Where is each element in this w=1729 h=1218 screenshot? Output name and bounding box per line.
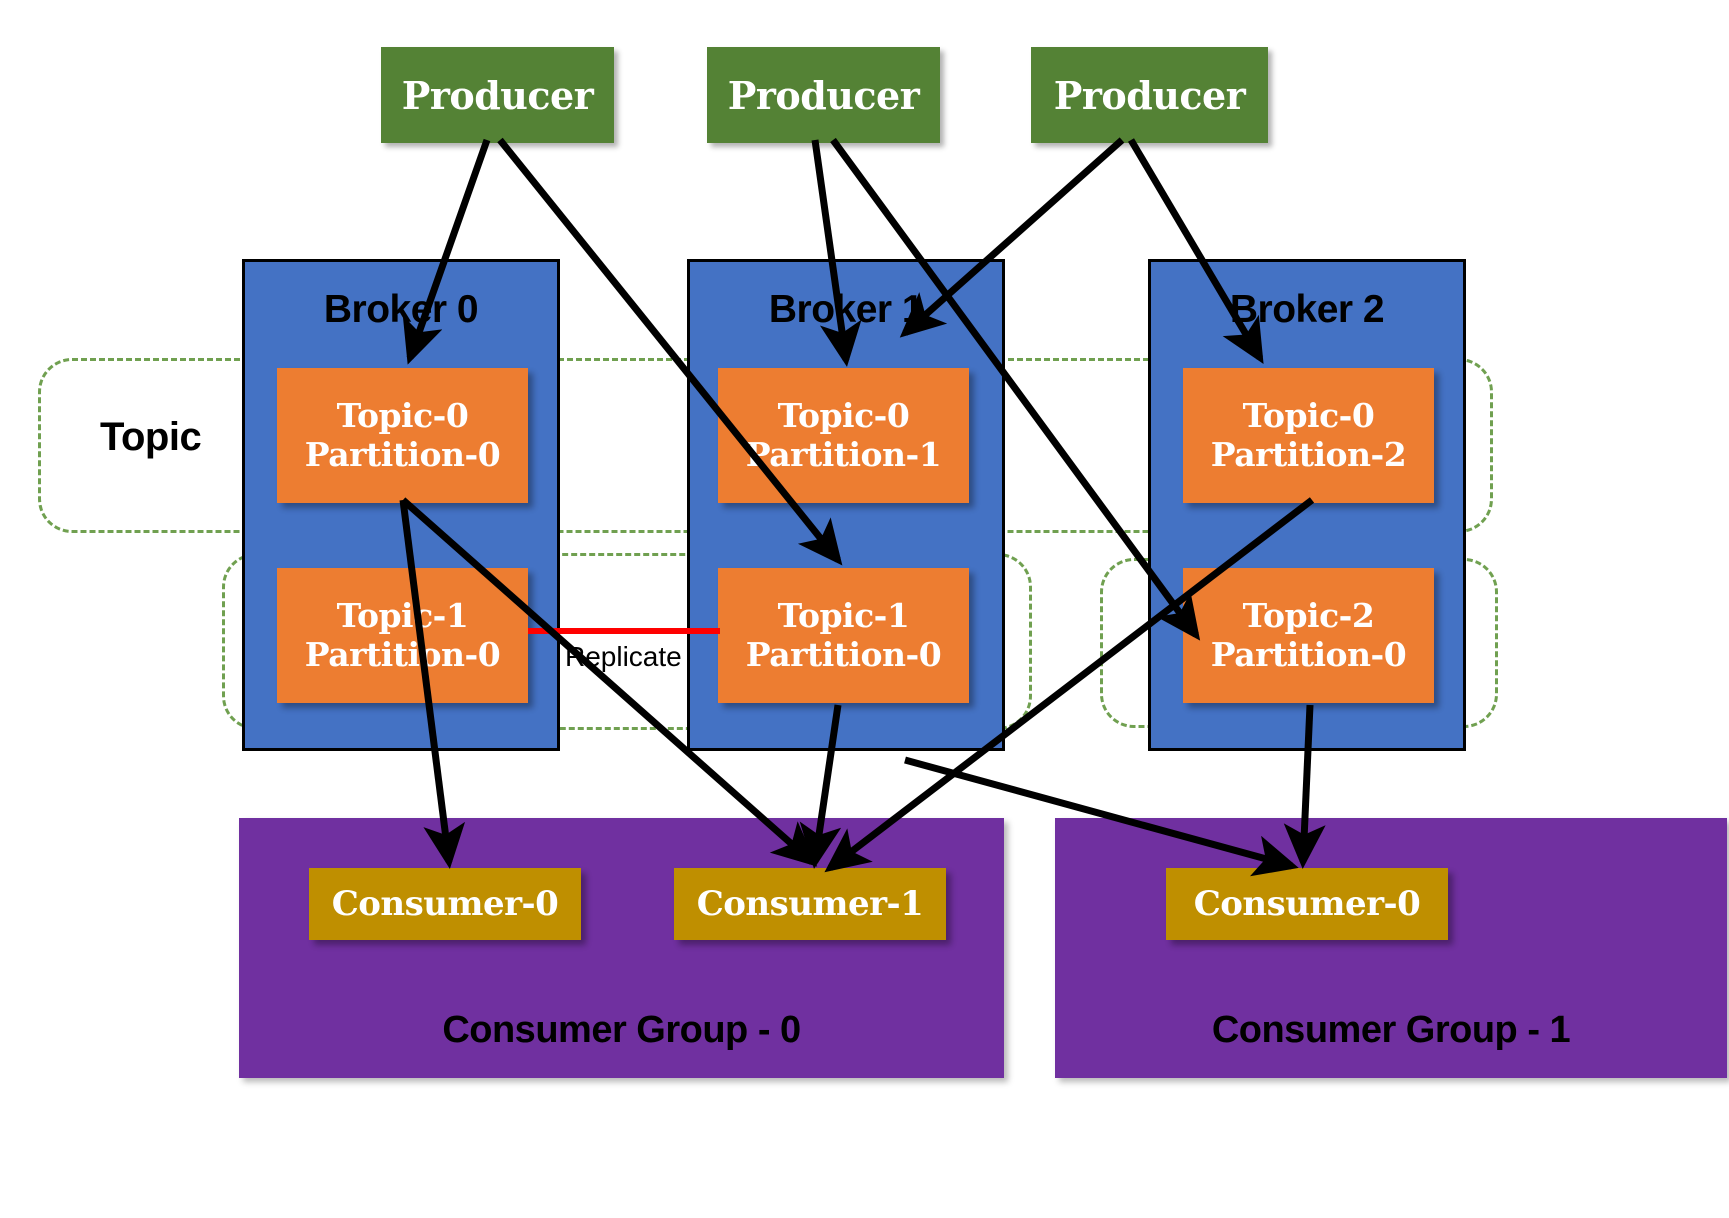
broker-0-partition-topic-1[interactable]: Topic-1 Partition-0 <box>277 568 528 703</box>
partition-topic-name: Topic-0 <box>778 397 910 435</box>
broker-2-partition-topic-0[interactable]: Topic-0 Partition-2 <box>1183 368 1434 503</box>
consumer-group-1-consumer-0[interactable]: Consumer-0 <box>1166 868 1448 940</box>
broker-0-label: Broker 0 <box>245 288 557 332</box>
consumer-group-0-consumer-0[interactable]: Consumer-0 <box>309 868 581 940</box>
replicate-label: Replicate <box>565 641 682 673</box>
consumer-group-0-consumer-1[interactable]: Consumer-1 <box>674 868 946 940</box>
partition-topic-name: Topic-1 <box>337 597 469 635</box>
partition-topic-name: Topic-0 <box>337 397 469 435</box>
broker-1-label: Broker 1 <box>690 288 1002 332</box>
producer-1[interactable]: Producer <box>707 47 940 143</box>
partition-index-name: Partition-0 <box>305 636 500 674</box>
broker-2-label: Broker 2 <box>1151 288 1463 332</box>
consumer-group-0-label: Consumer Group - 0 <box>239 1009 1004 1052</box>
consumer-group-0[interactable]: Consumer Group - 0 <box>239 818 1004 1078</box>
replicate-line <box>528 628 720 634</box>
broker-1-partition-topic-0[interactable]: Topic-0 Partition-1 <box>718 368 969 503</box>
partition-topic-name: Topic-0 <box>1243 397 1375 435</box>
partition-index-name: Partition-0 <box>305 436 500 474</box>
partition-index-name: Partition-1 <box>746 436 941 474</box>
broker-0-partition-topic-0[interactable]: Topic-0 Partition-0 <box>277 368 528 503</box>
producer-0[interactable]: Producer <box>381 47 614 143</box>
partition-topic-name: Topic-2 <box>1243 597 1375 635</box>
broker-1-partition-topic-1[interactable]: Topic-1 Partition-0 <box>718 568 969 703</box>
partition-index-name: Partition-0 <box>746 636 941 674</box>
partition-index-name: Partition-0 <box>1211 636 1406 674</box>
broker-2-partition-topic-2[interactable]: Topic-2 Partition-0 <box>1183 568 1434 703</box>
partition-topic-name: Topic-1 <box>778 597 910 635</box>
consumer-group-1[interactable]: Consumer Group - 1 <box>1055 818 1727 1078</box>
topic-region-label: Topic <box>100 415 201 460</box>
diagram-canvas: Topic Producer Producer Producer Broker … <box>0 0 1729 1218</box>
producer-2[interactable]: Producer <box>1031 47 1268 143</box>
partition-index-name: Partition-2 <box>1211 436 1406 474</box>
consumer-group-1-label: Consumer Group - 1 <box>1055 1009 1727 1052</box>
